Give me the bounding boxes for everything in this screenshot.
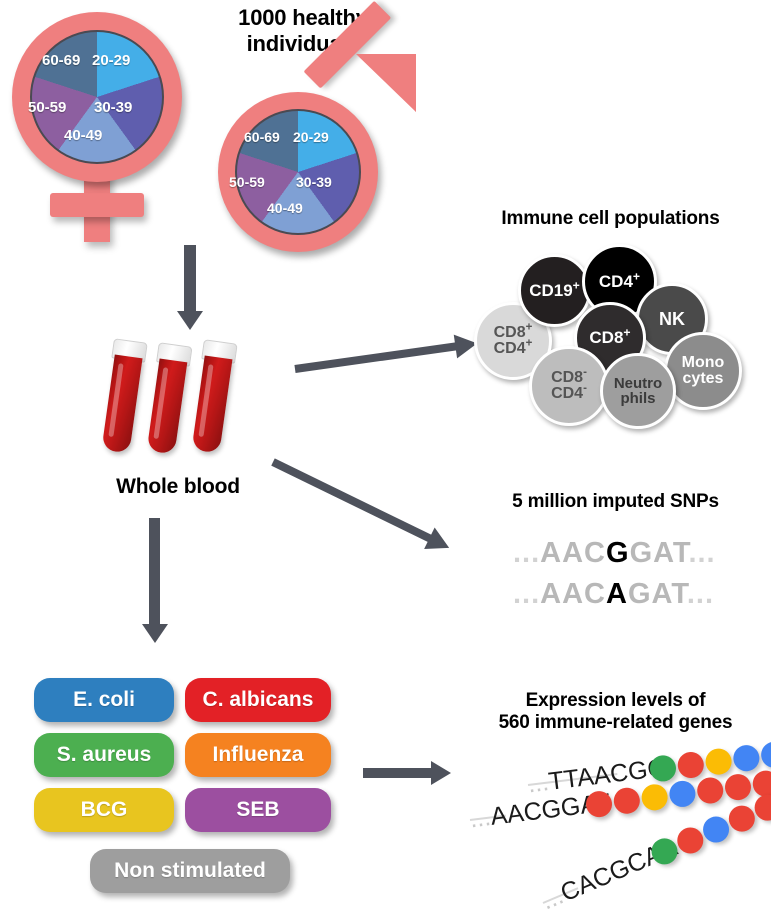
cell-label: CD8+ CD4+: [494, 325, 533, 358]
arrow-stimuli-to-expression: [363, 760, 463, 788]
tube-gloss: [108, 363, 123, 437]
female-gender-symbol: 20-29 30-39 40-49 50-59 60-69: [8, 8, 198, 238]
strand-bead: [704, 747, 733, 776]
snp-suffix: ...: [688, 537, 715, 569]
strand-bead: [612, 786, 641, 815]
stimulus-label: E. coli: [73, 688, 135, 712]
snps-title: 5 million imputed SNPs: [460, 491, 771, 513]
cell-label: CD8+: [589, 329, 630, 346]
snp-before: AAC: [540, 537, 606, 569]
strand-bead: [732, 744, 761, 773]
immune-title: Immune cell populations: [450, 208, 771, 230]
male-pie-label-40-49: 40-49: [267, 200, 303, 216]
stimulus-e-coli[interactable]: E. coli: [34, 678, 174, 722]
blood-tube: [147, 359, 188, 455]
arrow-head-icon: [424, 527, 454, 558]
snp-variant: A: [606, 578, 628, 610]
stimulus-s-aureus[interactable]: S. aureus: [34, 733, 174, 777]
blood-tube: [192, 356, 233, 454]
stimulus-influenza[interactable]: Influenza: [185, 733, 331, 777]
arrow-cohort-to-blood: [175, 245, 205, 335]
strand-bead: [676, 751, 705, 780]
male-gender-symbol: 20-29 30-39 40-49 50-59 60-69: [204, 46, 419, 246]
expression-title-line2: 560 immune-related genes: [460, 712, 771, 734]
stimulus-label: SEB: [236, 798, 279, 822]
snp-after: GAT: [630, 537, 689, 569]
male-pie-label-60-69: 60-69: [244, 129, 280, 145]
tube-body: [101, 355, 142, 454]
cell-label: Neutrophils: [614, 376, 662, 407]
arrow-blood-to-snps: [271, 458, 463, 557]
cell-label: Monocytes: [682, 355, 725, 388]
snp-prefix: ...: [513, 537, 540, 569]
arrow-blood-to-immune: [294, 339, 483, 373]
immune-cell-cluster: CD8+ CD4+ CD19+ CD4+ NK CD8+ Monocytes C…: [460, 240, 760, 425]
arrow-shaft: [149, 518, 160, 628]
whole-blood-tubes: [100, 338, 270, 463]
arrow-shaft: [294, 342, 461, 373]
pie-label-30-39: 30-39: [94, 99, 132, 116]
cell-monocytes: Monocytes: [664, 332, 742, 410]
male-symbol-arrow-head: [356, 54, 416, 112]
strand-bead: [724, 773, 753, 802]
pie-label-20-29: 20-29: [92, 52, 130, 69]
cell-label: NK: [659, 310, 685, 328]
expression-title: Expression levels of 560 immune-related …: [460, 690, 771, 735]
strand-bead: [696, 776, 725, 805]
snp-variant: G: [606, 537, 630, 569]
stimulus-label: S. aureus: [57, 743, 152, 767]
cell-label: CD19+: [529, 282, 580, 299]
cell-cd8neg-cd4neg: CD8- CD4-: [529, 346, 609, 426]
male-pie-label-30-39: 30-39: [296, 174, 332, 190]
tube-gloss: [153, 367, 168, 439]
pie-label-50-59: 50-59: [28, 99, 66, 116]
arrow-head-icon: [142, 624, 168, 643]
stimulus-bcg[interactable]: BCG: [34, 788, 174, 832]
arrow-shaft: [271, 458, 436, 544]
snp-sequence-2: ...AACAGAT...: [513, 578, 714, 611]
blood-tube: [101, 355, 142, 454]
arrow-head-icon: [177, 311, 203, 330]
stimulus-seb[interactable]: SEB: [185, 788, 331, 832]
snp-after: GAT: [628, 578, 687, 610]
arrow-blood-to-stimuli: [140, 518, 170, 648]
stimulus-label: BCG: [81, 798, 128, 822]
strand-bead: [640, 783, 669, 812]
pie-label-40-49: 40-49: [64, 127, 102, 144]
male-age-pie: [235, 109, 361, 235]
tube-gloss: [198, 364, 213, 437]
tube-body: [147, 359, 188, 455]
arrow-shaft: [363, 768, 435, 778]
strand-bead: [760, 740, 771, 769]
male-pie-label-50-59: 50-59: [229, 174, 265, 190]
arrow-head-icon: [431, 761, 451, 785]
stimulus-c-albicans[interactable]: C. albicans: [185, 678, 331, 722]
stimulus-label: C. albicans: [203, 688, 314, 712]
pie-label-60-69: 60-69: [42, 52, 80, 69]
cell-label: CD4+: [599, 273, 640, 290]
snp-sequence-1: ...AACGGAT...: [513, 537, 716, 570]
tube-body: [192, 356, 233, 454]
stimulus-label: Non stimulated: [114, 859, 266, 883]
stimulus-non-stimulated[interactable]: Non stimulated: [90, 849, 290, 893]
male-pie-label-20-29: 20-29: [293, 129, 329, 145]
cell-label: CD8- CD4-: [551, 370, 587, 403]
arrow-shaft: [184, 245, 196, 315]
strand-bead: [668, 779, 697, 808]
whole-blood-label: Whole blood: [88, 475, 268, 500]
snp-suffix: ...: [687, 578, 714, 610]
stimulus-label: Influenza: [212, 743, 303, 767]
snp-before: AAC: [540, 578, 606, 610]
female-symbol-crossbar: [50, 193, 144, 217]
snp-prefix: ...: [513, 578, 540, 610]
expression-title-line1: Expression levels of: [460, 690, 771, 712]
cell-neutrophils: Neutrophils: [600, 353, 676, 429]
